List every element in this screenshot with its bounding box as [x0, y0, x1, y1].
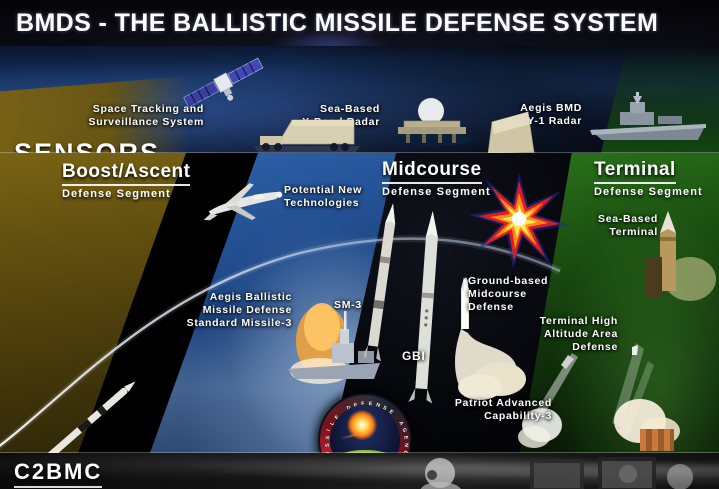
aegis-asset-label-sm3: SM-3 — [334, 299, 376, 312]
boost-segment-subtitle: Defense Segment — [62, 188, 190, 200]
page-title: BMDS - THE BALLISTIC MISSILE DEFENSE SYS… — [0, 9, 658, 38]
sensor-label-stss: Space Tracking and Surveillance System — [76, 103, 204, 129]
boost-segment-title: Boost/Ascent — [62, 161, 190, 186]
terminal-asset-label-thaad: Terminal High Altitude Area Defense — [520, 315, 618, 354]
thaad-launch-icon — [588, 343, 708, 453]
terminal-asset-label-pac3: Patriot Advanced Capability-3 — [450, 397, 552, 423]
sensors-band: Space Tracking and Surveillance System S… — [0, 46, 719, 153]
c2bmc-band: C2BMC — [0, 453, 719, 489]
boost-asset-label-potential-new-tech: Potential New Technologies — [284, 184, 376, 210]
sensors-heading: SENSORS — [14, 138, 160, 153]
seal-intercept-burst — [347, 410, 377, 440]
c2bmc-heading: C2BMC — [14, 459, 102, 488]
terminal-segment-title: Terminal — [594, 159, 676, 184]
midcourse-asset-label-gmd: Ground-based Midcourse Defense — [468, 275, 560, 314]
aegis-cruiser-icon — [586, 90, 712, 146]
boost-segment-header: Boost/Ascent Defense Segment — [62, 161, 190, 200]
intercept-burst-icon — [464, 171, 574, 271]
sm3-interceptor-icon — [364, 197, 404, 367]
bmds-poster: BMDS - THE BALLISTIC MISSILE DEFENSE SYS… — [0, 0, 719, 489]
aegis-asset-label-sm3-full: Aegis Ballistic Missile Defense Standard… — [172, 291, 292, 330]
uav-drone-icon — [196, 181, 292, 225]
terminal-segment-header: Terminal Defense Segment — [594, 159, 703, 198]
terminal-segment-subtitle: Defense Segment — [594, 186, 703, 198]
operator-silhouettes-icon — [380, 453, 719, 489]
terminal-asset-label-sea-based-terminal: Sea-Based Terminal — [586, 213, 658, 239]
early-warning-radar-icon — [478, 108, 552, 153]
radar-truck-icon — [248, 112, 368, 153]
poster-title-bar: BMDS - THE BALLISTIC MISSILE DEFENSE SYS… — [0, 0, 719, 46]
